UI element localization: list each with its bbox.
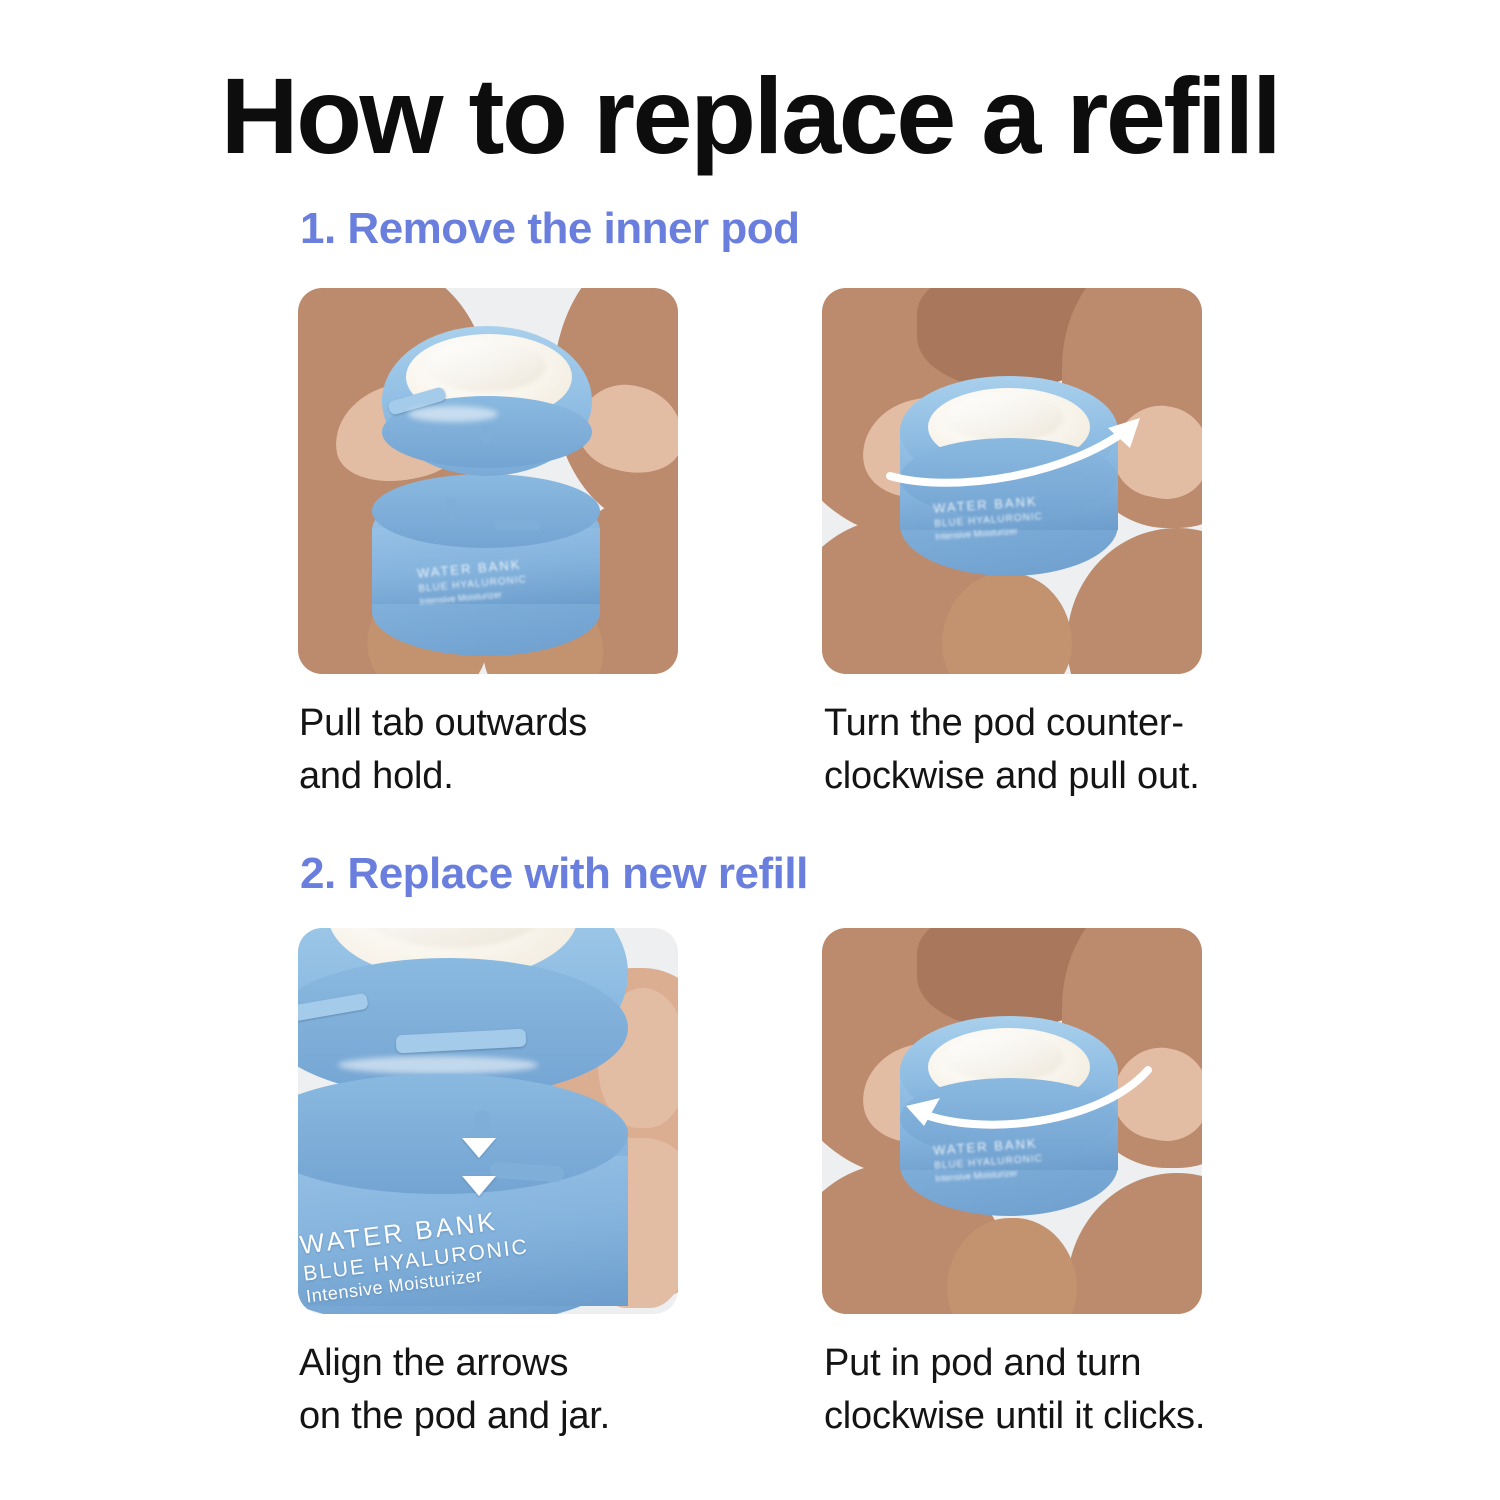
cream-swirl xyxy=(426,340,546,392)
jar-rim xyxy=(372,474,600,548)
page-title: How to replace a refill xyxy=(0,62,1500,170)
scene-turn-clockwise: WATER BANK BLUE HYALURONIC Intensive Moi… xyxy=(822,928,1202,1314)
step-1-photo-2: WATER BANK BLUE HYALURONIC Intensive Moi… xyxy=(822,288,1202,674)
scene-pull-tab: WATER BANK BLUE HYALURONIC Intensive Moi… xyxy=(298,288,678,674)
step-2-heading: 2. Replace with new refill xyxy=(300,849,808,899)
step-1-photo-1: WATER BANK BLUE HYALURONIC Intensive Moi… xyxy=(298,288,678,674)
pod-alignment-notch xyxy=(482,426,490,444)
pod-highlight xyxy=(408,406,498,422)
step-1-caption-1: Pull tab outwards and hold. xyxy=(299,697,587,803)
alignment-triangle-upper-icon xyxy=(462,1138,496,1158)
jar-alignment-notch xyxy=(446,498,456,520)
alignment-triangle-lower-icon xyxy=(462,1176,496,1196)
curved-arrow-counter-clockwise-icon xyxy=(882,398,1172,508)
scene-align-arrows: WATER BANK BLUE HYALURONIC Intensive Moi… xyxy=(298,928,678,1314)
curved-arrow-clockwise-icon xyxy=(880,1040,1170,1150)
step-2-caption-2: Put in pod and turn clockwise until it c… xyxy=(824,1337,1205,1443)
step-1-caption-2: Turn the pod counter- clockwise and pull… xyxy=(824,697,1200,803)
step-2-photo-2: WATER BANK BLUE HYALURONIC Intensive Moi… xyxy=(822,928,1202,1314)
step-2-photo-1: WATER BANK BLUE HYALURONIC Intensive Moi… xyxy=(298,928,678,1314)
infographic-page: How to replace a refill 1. Remove the in… xyxy=(0,0,1500,1500)
step-2-caption-1: Align the arrows on the pod and jar. xyxy=(299,1337,610,1443)
scene-turn-counter-clockwise: WATER BANK BLUE HYALURONIC Intensive Moi… xyxy=(822,288,1202,674)
pod-highlight xyxy=(338,1056,538,1074)
step-1-heading: 1. Remove the inner pod xyxy=(300,204,799,254)
jar-slot xyxy=(494,520,540,530)
